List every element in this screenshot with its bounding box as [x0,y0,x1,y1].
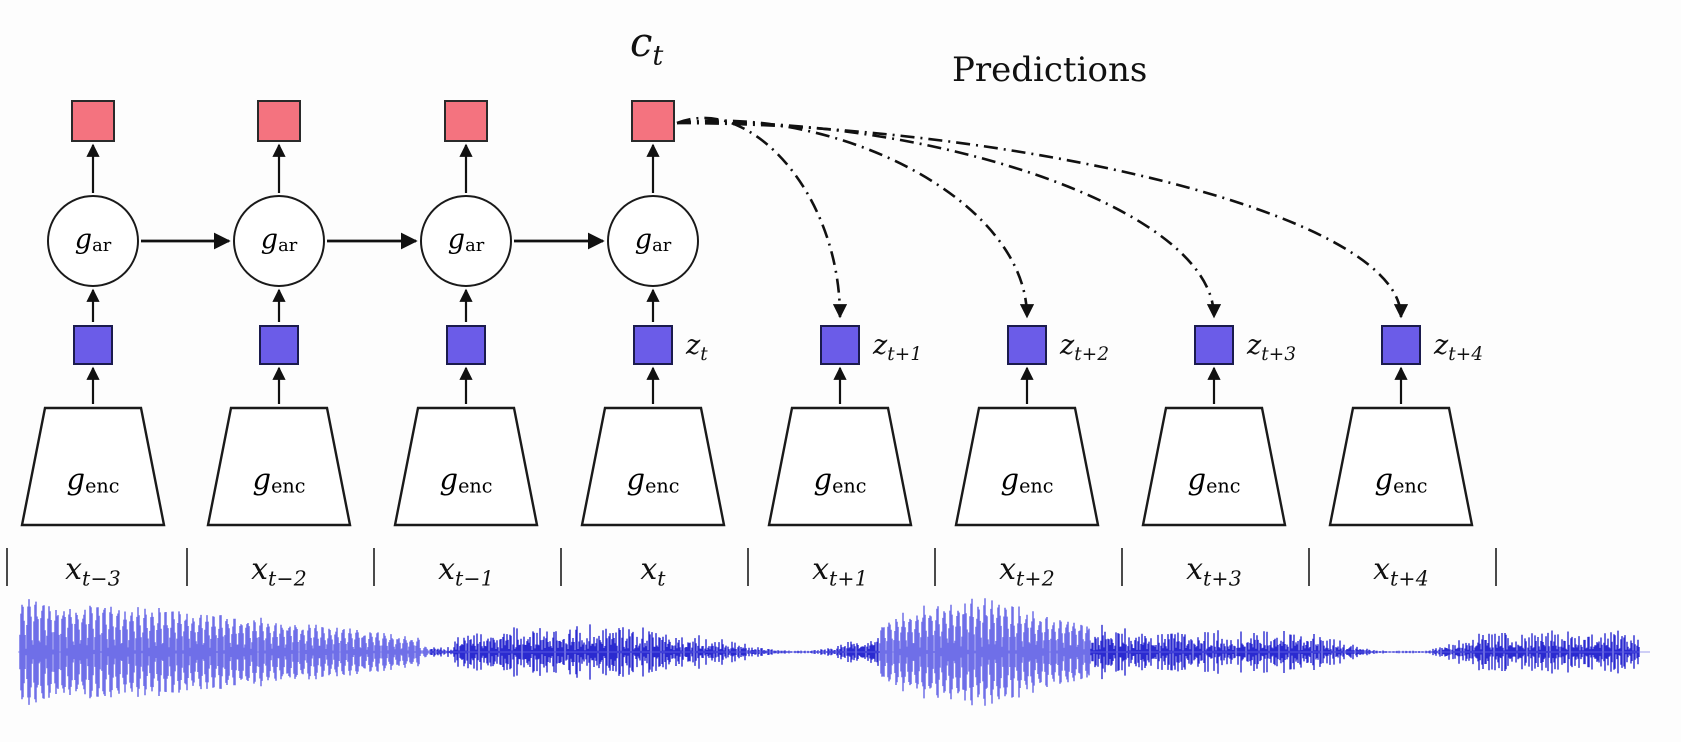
latent-box-6[interactable] [1194,325,1234,365]
latent-box-5[interactable] [1007,325,1047,365]
encoder-label: genc [67,439,120,496]
latent-label-6: zt+3 [1247,330,1296,364]
autoregressive-label: gar [448,226,484,255]
encoder-block-3[interactable]: genc [579,406,727,528]
segment-divider-3 [560,548,562,586]
encoder-label: genc [440,439,493,496]
segment-divider-2 [373,548,375,586]
encoder-label: genc [814,439,867,496]
encoder-label: genc [1188,439,1241,496]
input-segment-label-5: xt+2 [937,552,1117,589]
encoder-block-5[interactable]: genc [953,406,1101,528]
autoregressive-node-0[interactable]: gar [47,195,139,287]
latent-box-0[interactable] [73,325,113,365]
input-segment-label-1: xt−2 [189,552,369,589]
encoder-label: genc [253,439,306,496]
segment-divider-4 [747,548,749,586]
input-segment-label-3: xt [563,552,743,589]
latent-label-5: zt+2 [1060,330,1109,364]
predictions-label: Predictions [952,50,1147,90]
encoder-label: genc [1001,439,1054,496]
encoder-block-6[interactable]: genc [1140,406,1288,528]
autoregressive-label: gar [75,226,111,255]
prediction-arrow-1 [677,121,1027,317]
encoder-block-1[interactable]: genc [205,406,353,528]
latent-box-7[interactable] [1381,325,1421,365]
segment-divider-1 [186,548,188,586]
encoder-label: genc [1375,439,1428,496]
encoder-block-0[interactable]: genc [19,406,167,528]
context-box-2[interactable] [444,100,488,142]
segment-divider-6 [1121,548,1123,586]
context-box-0[interactable] [71,100,115,142]
encoder-label: genc [627,439,680,496]
context-box-1[interactable] [257,100,301,142]
encoder-block-7[interactable]: genc [1327,406,1475,528]
latent-label-3: zt [686,330,708,364]
input-segment-label-2: xt−1 [376,552,556,589]
latent-box-1[interactable] [259,325,299,365]
autoregressive-label: gar [635,226,671,255]
latent-box-3[interactable] [633,325,673,365]
prediction-arrow-2 [677,122,1214,317]
segment-divider-5 [934,548,936,586]
context-vector-label: ct [630,20,664,70]
prediction-arrow-0 [677,118,840,317]
input-segment-label-7: xt+4 [1311,552,1491,589]
input-segment-label-4: xt+1 [750,552,930,589]
encoder-block-4[interactable]: genc [766,406,914,528]
latent-label-4: zt+1 [873,330,922,364]
autoregressive-node-3[interactable]: gar [607,195,699,287]
latent-label-7: zt+4 [1434,330,1483,364]
segment-divider-8 [1495,548,1497,586]
latent-box-2[interactable] [446,325,486,365]
prediction-arrow-3 [677,123,1401,317]
autoregressive-node-1[interactable]: gar [233,195,325,287]
context-box-3[interactable] [631,100,675,142]
autoregressive-label: gar [261,226,297,255]
segment-divider-7 [1308,548,1310,586]
input-segment-label-0: xt−3 [3,552,183,589]
audio-waveform [0,592,1681,712]
encoder-block-2[interactable]: genc [392,406,540,528]
input-segment-label-6: xt+3 [1124,552,1304,589]
latent-box-4[interactable] [820,325,860,365]
segment-divider-0 [6,548,8,586]
cpc-diagram: gencgarxt−3gencgarxt−2gencgarxt−1gencztg… [0,0,1681,742]
autoregressive-node-2[interactable]: gar [420,195,512,287]
